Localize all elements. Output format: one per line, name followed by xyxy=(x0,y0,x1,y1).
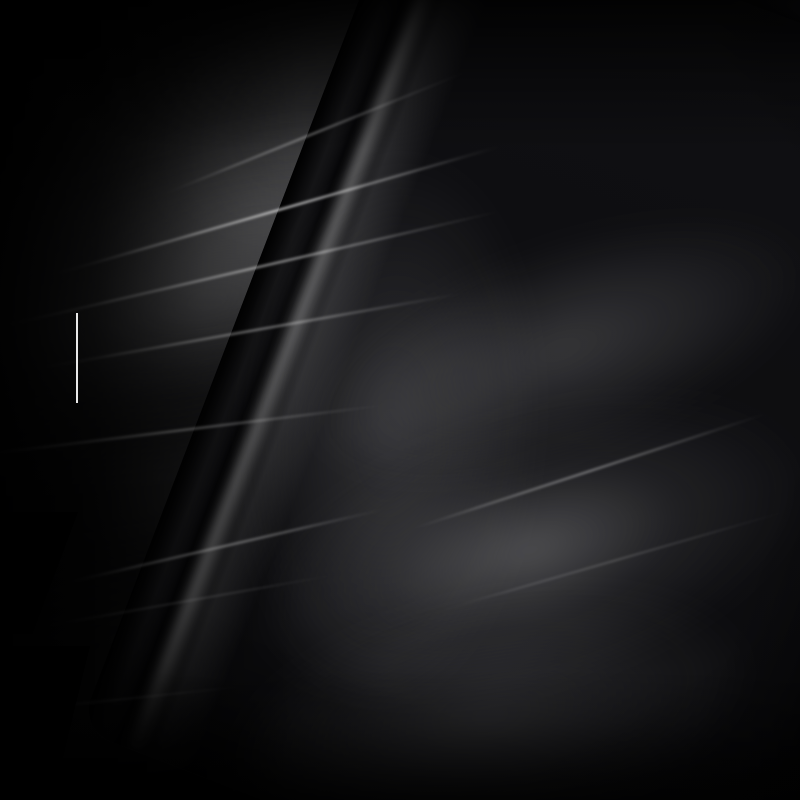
banner-copy xyxy=(0,0,800,800)
vertical-rule xyxy=(76,313,78,403)
banner-canvas xyxy=(0,0,800,800)
